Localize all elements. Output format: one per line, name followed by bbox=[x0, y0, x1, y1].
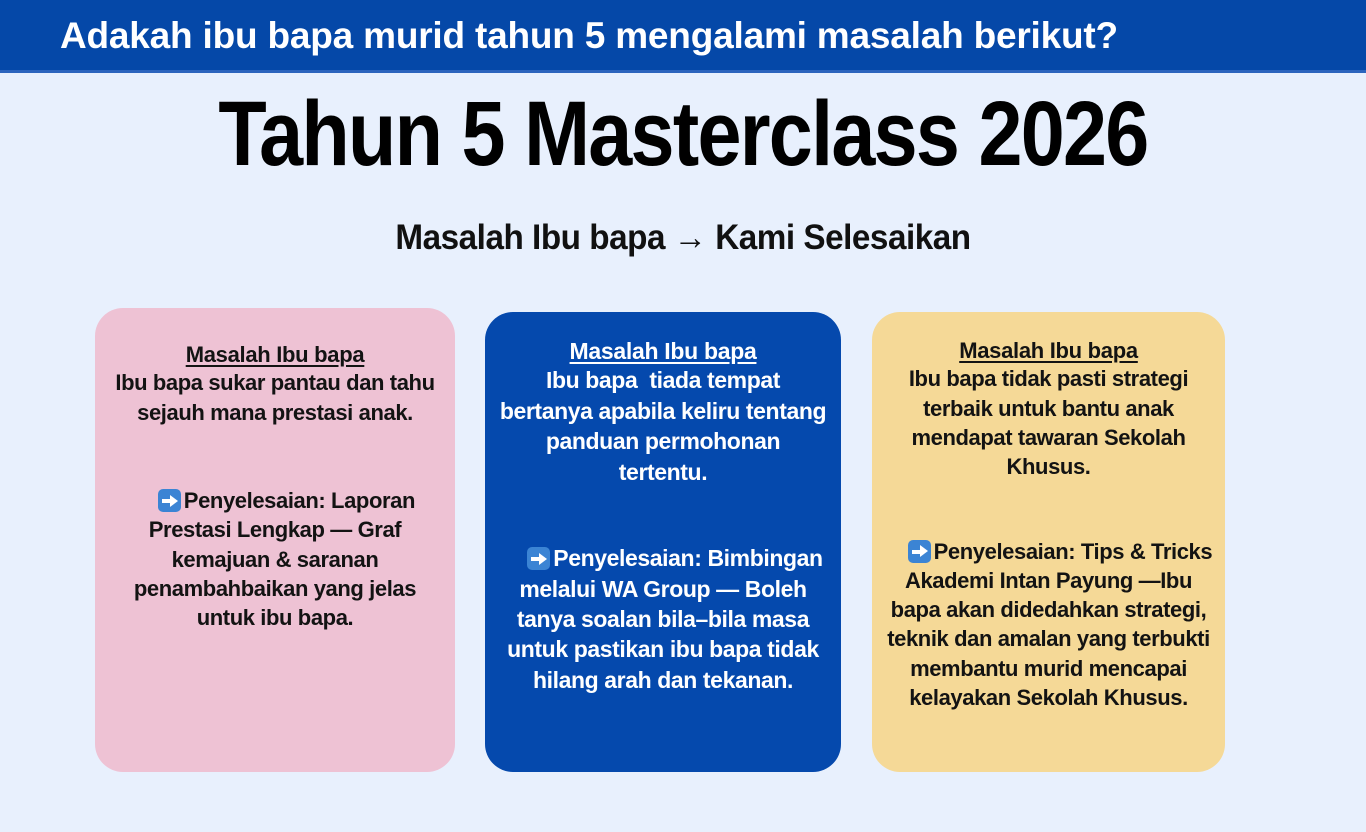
card-problem-text: Ibu bapa tidak pasti strategi terbaik un… bbox=[884, 364, 1213, 481]
page-subtitle: Masalah Ibu bapa → Kami Selesaikan bbox=[34, 217, 1332, 259]
card-heading: Masalah Ibu bapa bbox=[884, 338, 1213, 363]
card-solution-block: Penyelesaian: Tips & Tricks Akademi Inta… bbox=[884, 507, 1213, 741]
right-arrow-icon bbox=[158, 489, 181, 512]
card-heading: Masalah Ibu bapa bbox=[111, 342, 439, 367]
card-solution-block: Penyelesaian: Laporan Prestasi Lengkap —… bbox=[111, 457, 439, 662]
right-arrow-icon bbox=[527, 547, 550, 570]
problem-card-amber: Masalah Ibu bapa Ibu bapa tidak pasti st… bbox=[872, 312, 1225, 772]
header-banner-title: Adakah ibu bapa murid tahun 5 mengalami … bbox=[60, 17, 1118, 54]
card-solution-block: Penyelesaian: Bimbingan melalui WA Group… bbox=[499, 513, 827, 726]
problem-card-pink: Masalah Ibu bapa Ibu bapa sukar pantau d… bbox=[95, 308, 455, 772]
page-title: Tahun 5 Masterclass 2026 bbox=[96, 88, 1271, 180]
header-banner-underline bbox=[0, 70, 1366, 73]
problem-card-blue: Masalah Ibu bapa Ibu bapa tiada tempat b… bbox=[485, 312, 841, 772]
right-arrow-icon bbox=[908, 540, 931, 563]
card-problem-text: Ibu bapa sukar pantau dan tahu sejauh ma… bbox=[111, 368, 439, 427]
header-banner: Adakah ibu bapa murid tahun 5 mengalami … bbox=[0, 0, 1366, 70]
card-solution-text: Penyelesaian: Bimbingan melalui WA Group… bbox=[507, 545, 829, 692]
card-problem-text: Ibu bapa tiada tempat bertanya apabila k… bbox=[499, 365, 827, 486]
card-solution-text: Penyelesaian: Tips & Tricks Akademi Inta… bbox=[887, 539, 1217, 710]
card-heading: Masalah Ibu bapa bbox=[499, 338, 827, 364]
